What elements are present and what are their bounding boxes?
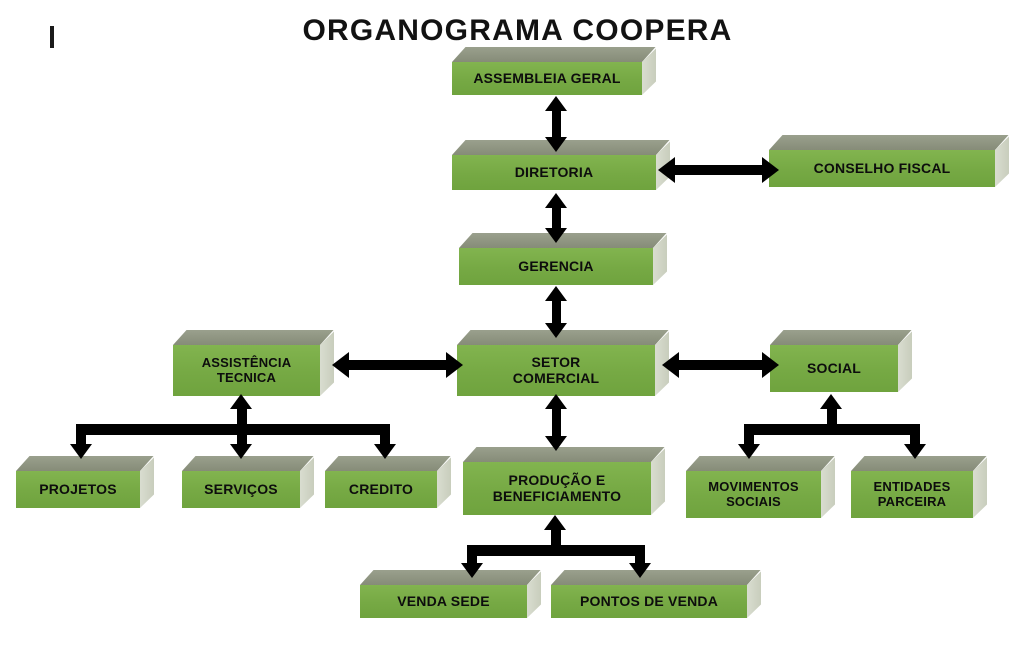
node-label: PRODUÇÃO E BENEFICIAMENTO bbox=[489, 473, 626, 504]
page-title: ORGANOGRAMA COOPERA bbox=[0, 14, 1035, 48]
node-venda-sede[interactable]: VENDA SEDE bbox=[360, 570, 527, 618]
arrowhead-down-icon bbox=[545, 137, 567, 152]
node-entidades-parceira[interactable]: ENTIDADES PARCEIRA bbox=[851, 456, 973, 518]
arrowhead-down-icon bbox=[545, 323, 567, 338]
arrowhead-up-icon bbox=[545, 193, 567, 208]
organogram-canvas: ORGANOGRAMA COOPERA bbox=[0, 0, 1035, 649]
box-top-face bbox=[686, 456, 835, 471]
arrowhead-up-icon bbox=[544, 515, 566, 530]
node-label: PROJETOS bbox=[35, 482, 121, 498]
arrowhead-down-icon bbox=[738, 444, 760, 459]
box-front-face: SOCIAL bbox=[770, 345, 898, 392]
box-front-face: VENDA SEDE bbox=[360, 585, 527, 618]
node-label: SOCIAL bbox=[803, 361, 865, 377]
box-front-face: PROJETOS bbox=[16, 471, 140, 508]
connector-bus bbox=[76, 424, 390, 435]
arrowhead-right-icon bbox=[446, 352, 463, 378]
arrowhead-left-icon bbox=[332, 352, 349, 378]
node-label: ASSISTÊNCIA TECNICA bbox=[198, 356, 296, 385]
node-label: SERVIÇOS bbox=[200, 482, 282, 498]
box-front-face: SETOR COMERCIAL bbox=[457, 345, 655, 396]
arrowhead-down-icon bbox=[545, 436, 567, 451]
node-projetos[interactable]: PROJETOS bbox=[16, 456, 140, 508]
arrowhead-down-icon bbox=[374, 444, 396, 459]
box-top-face bbox=[769, 135, 1009, 150]
arrowhead-down-icon bbox=[545, 228, 567, 243]
node-conselho-fiscal[interactable]: CONSELHO FISCAL bbox=[769, 135, 995, 187]
arrowhead-right-icon bbox=[762, 157, 779, 183]
box-top-face bbox=[551, 570, 761, 585]
arrowhead-down-icon bbox=[461, 563, 483, 578]
box-front-face: PRODUÇÃO E BENEFICIAMENTO bbox=[463, 462, 651, 515]
box-top-face bbox=[173, 330, 334, 345]
arrowhead-down-icon bbox=[629, 563, 651, 578]
node-movimentos-sociais[interactable]: MOVIMENTOS SOCIAIS bbox=[686, 456, 821, 518]
arrowhead-up-icon bbox=[545, 394, 567, 409]
arrowhead-left-icon bbox=[662, 352, 679, 378]
node-assistencia-tecnica[interactable]: ASSISTÊNCIA TECNICA bbox=[173, 330, 320, 396]
node-label: PONTOS DE VENDA bbox=[576, 594, 722, 610]
connector-stem bbox=[674, 165, 768, 175]
box-side-face bbox=[651, 448, 665, 515]
box-front-face: CREDITO bbox=[325, 471, 437, 508]
box-front-face: CONSELHO FISCAL bbox=[769, 150, 995, 187]
node-credito[interactable]: CREDITO bbox=[325, 456, 437, 508]
node-label: DIRETORIA bbox=[511, 165, 598, 181]
node-label: GERENCIA bbox=[514, 259, 598, 275]
box-front-face: ENTIDADES PARCEIRA bbox=[851, 471, 973, 518]
node-label: CREDITO bbox=[345, 482, 417, 498]
box-front-face: SERVIÇOS bbox=[182, 471, 300, 508]
connector-stem bbox=[678, 360, 768, 370]
node-servicos[interactable]: SERVIÇOS bbox=[182, 456, 300, 508]
node-label: SETOR COMERCIAL bbox=[509, 355, 604, 386]
box-top-face bbox=[452, 47, 656, 62]
node-producao-beneficiamento[interactable]: PRODUÇÃO E BENEFICIAMENTO bbox=[463, 447, 651, 515]
node-setor-comercial[interactable]: SETOR COMERCIAL bbox=[457, 330, 655, 396]
box-top-face bbox=[770, 330, 912, 345]
arrowhead-up-icon bbox=[230, 394, 252, 409]
node-label: CONSELHO FISCAL bbox=[810, 161, 955, 177]
arrowhead-up-icon bbox=[820, 394, 842, 409]
box-front-face: ASSEMBLEIA GERAL bbox=[452, 62, 642, 95]
box-front-face: GERENCIA bbox=[459, 248, 653, 285]
box-front-face: MOVIMENTOS SOCIAIS bbox=[686, 471, 821, 518]
box-front-face: DIRETORIA bbox=[452, 155, 656, 190]
node-label: ENTIDADES PARCEIRA bbox=[870, 480, 955, 509]
node-assembleia-geral[interactable]: ASSEMBLEIA GERAL bbox=[452, 47, 642, 95]
box-top-face bbox=[360, 570, 541, 585]
arrowhead-right-icon bbox=[762, 352, 779, 378]
connector-stem bbox=[348, 360, 452, 370]
node-label: VENDA SEDE bbox=[393, 594, 494, 610]
node-label: MOVIMENTOS SOCIAIS bbox=[704, 480, 803, 509]
arrowhead-up-icon bbox=[545, 96, 567, 111]
arrowhead-down-icon bbox=[230, 444, 252, 459]
arrowhead-down-icon bbox=[70, 444, 92, 459]
box-front-face: PONTOS DE VENDA bbox=[551, 585, 747, 618]
node-social[interactable]: SOCIAL bbox=[770, 330, 898, 392]
box-front-face: ASSISTÊNCIA TECNICA bbox=[173, 345, 320, 396]
arrowhead-left-icon bbox=[658, 157, 675, 183]
arrowhead-up-icon bbox=[545, 286, 567, 301]
node-label: ASSEMBLEIA GERAL bbox=[469, 71, 624, 87]
arrowhead-down-icon bbox=[904, 444, 926, 459]
